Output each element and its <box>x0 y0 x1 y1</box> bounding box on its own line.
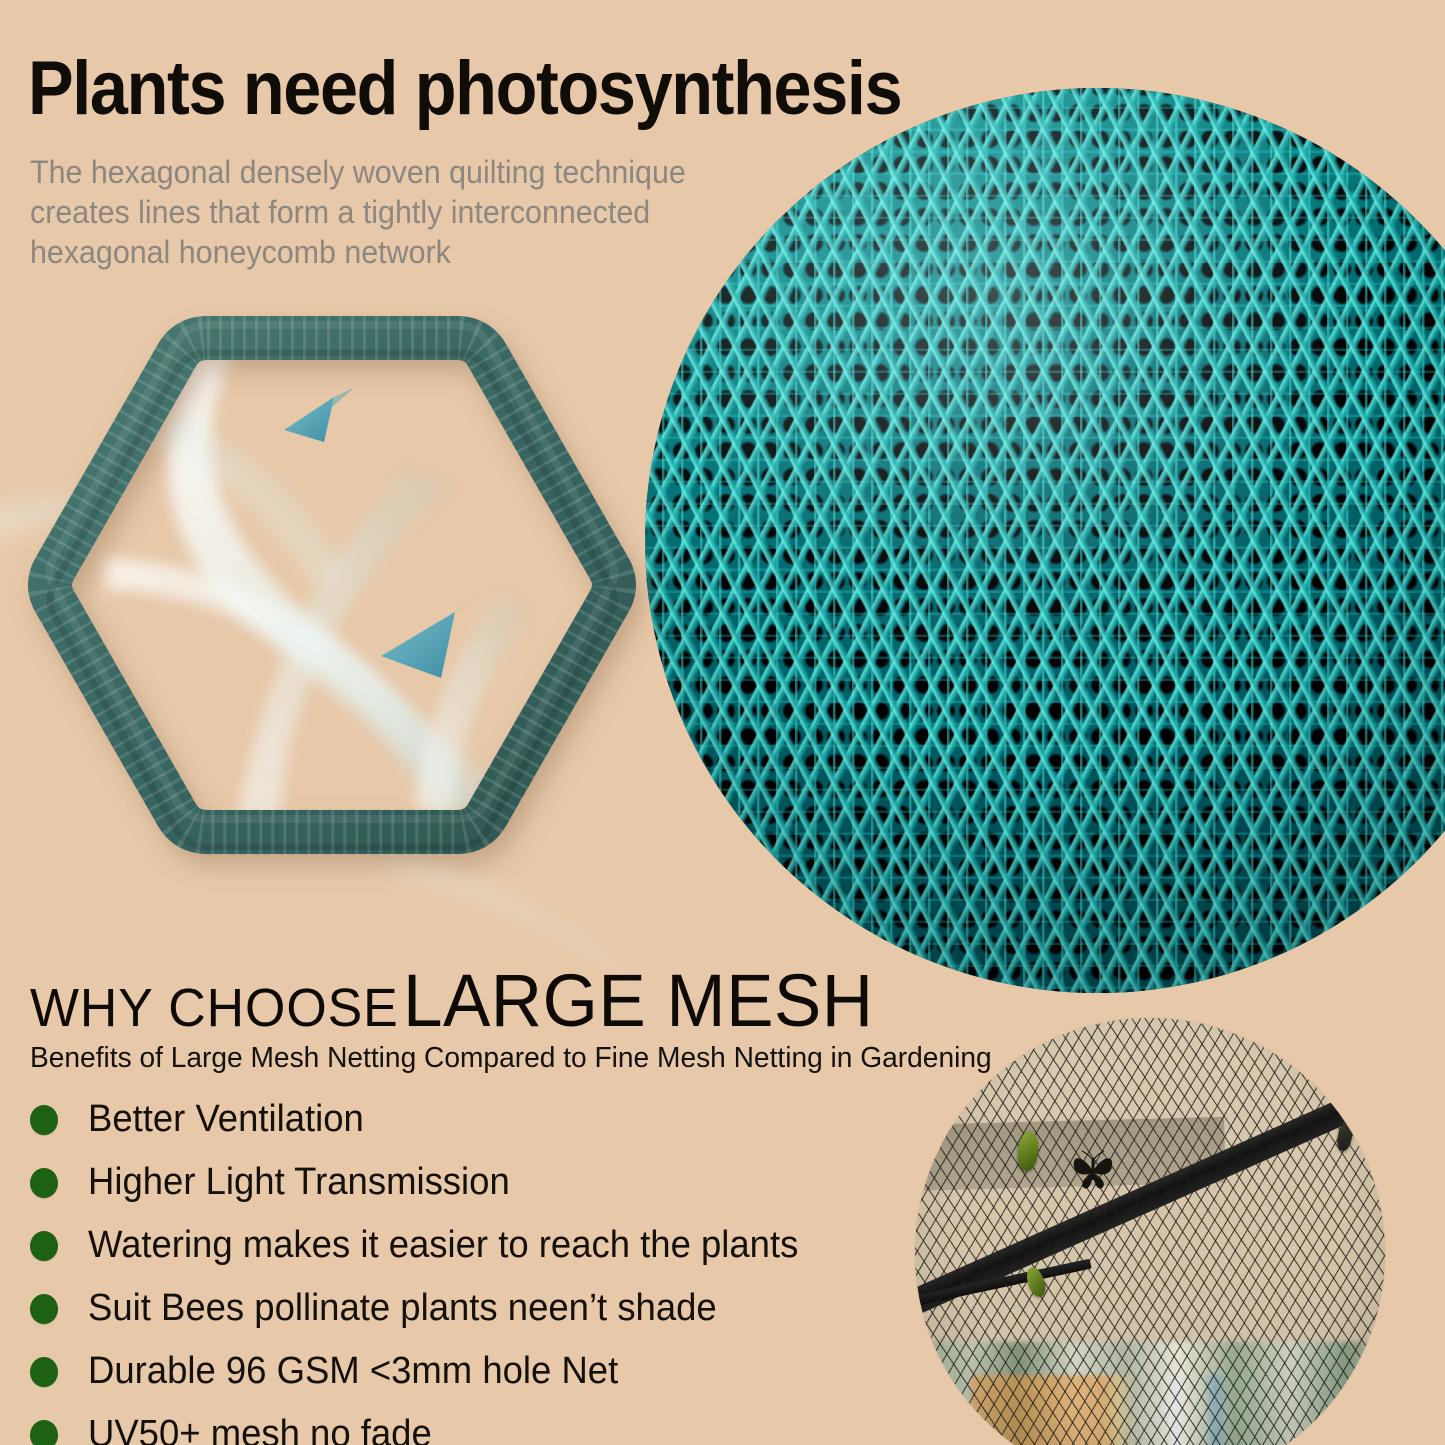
why-choose-subtitle: Benefits of Large Mesh Netting Compared … <box>30 1042 992 1075</box>
list-item: Durable 96 GSM <3mm hole Net <box>30 1340 900 1403</box>
garden-net-with-butterfly-photo <box>915 1018 1385 1445</box>
mesh-shading-overlay <box>645 88 1445 993</box>
why-choose-heading: WHY CHOOSE LARGE MESH <box>30 958 874 1043</box>
bullet-dot-icon <box>30 1105 58 1135</box>
list-item: Higher Light Transmission <box>30 1151 900 1214</box>
why-choose-heading-small: WHY CHOOSE <box>30 978 399 1038</box>
bullet-dot-icon <box>30 1231 58 1261</box>
list-item: UV50+ mesh no fade <box>30 1403 900 1445</box>
page-title: Plants need photosynthesis <box>28 50 901 128</box>
net-photo-vignette <box>915 1018 1385 1445</box>
benefit-label: Durable 96 GSM <3mm hole Net <box>88 1350 618 1393</box>
benefits-list: Better Ventilation Higher Light Transmis… <box>30 1088 900 1445</box>
subtitle-line-1: The hexagonal densely woven quilting tec… <box>30 152 752 192</box>
list-item: Watering makes it easier to reach the pl… <box>30 1214 900 1277</box>
infographic-page: Plants need photosynthesis The hexagonal… <box>0 0 1445 1445</box>
benefit-label: Watering makes it easier to reach the pl… <box>88 1224 798 1267</box>
bullet-dot-icon <box>30 1357 58 1387</box>
why-choose-heading-large: LARGE MESH <box>403 959 874 1042</box>
list-item: Suit Bees pollinate plants neen’t shade <box>30 1277 900 1340</box>
hexagon-airflow-illustration <box>0 290 685 910</box>
benefit-label: Suit Bees pollinate plants neen’t shade <box>88 1287 717 1330</box>
bullet-dot-icon <box>30 1420 58 1445</box>
bullet-dot-icon <box>30 1294 58 1324</box>
subtitle-line-3: hexagonal honeycomb network <box>30 232 752 272</box>
benefit-label: UV50+ mesh no fade <box>88 1413 432 1445</box>
list-item: Better Ventilation <box>30 1088 900 1151</box>
benefit-label: Better Ventilation <box>88 1098 364 1141</box>
page-subtitle: The hexagonal densely woven quilting tec… <box>30 152 752 272</box>
large-mesh-fabric-closeup <box>645 88 1445 993</box>
subtitle-line-2: creates lines that form a tightly interc… <box>30 192 752 232</box>
benefit-label: Higher Light Transmission <box>88 1161 510 1204</box>
bullet-dot-icon <box>30 1168 58 1198</box>
